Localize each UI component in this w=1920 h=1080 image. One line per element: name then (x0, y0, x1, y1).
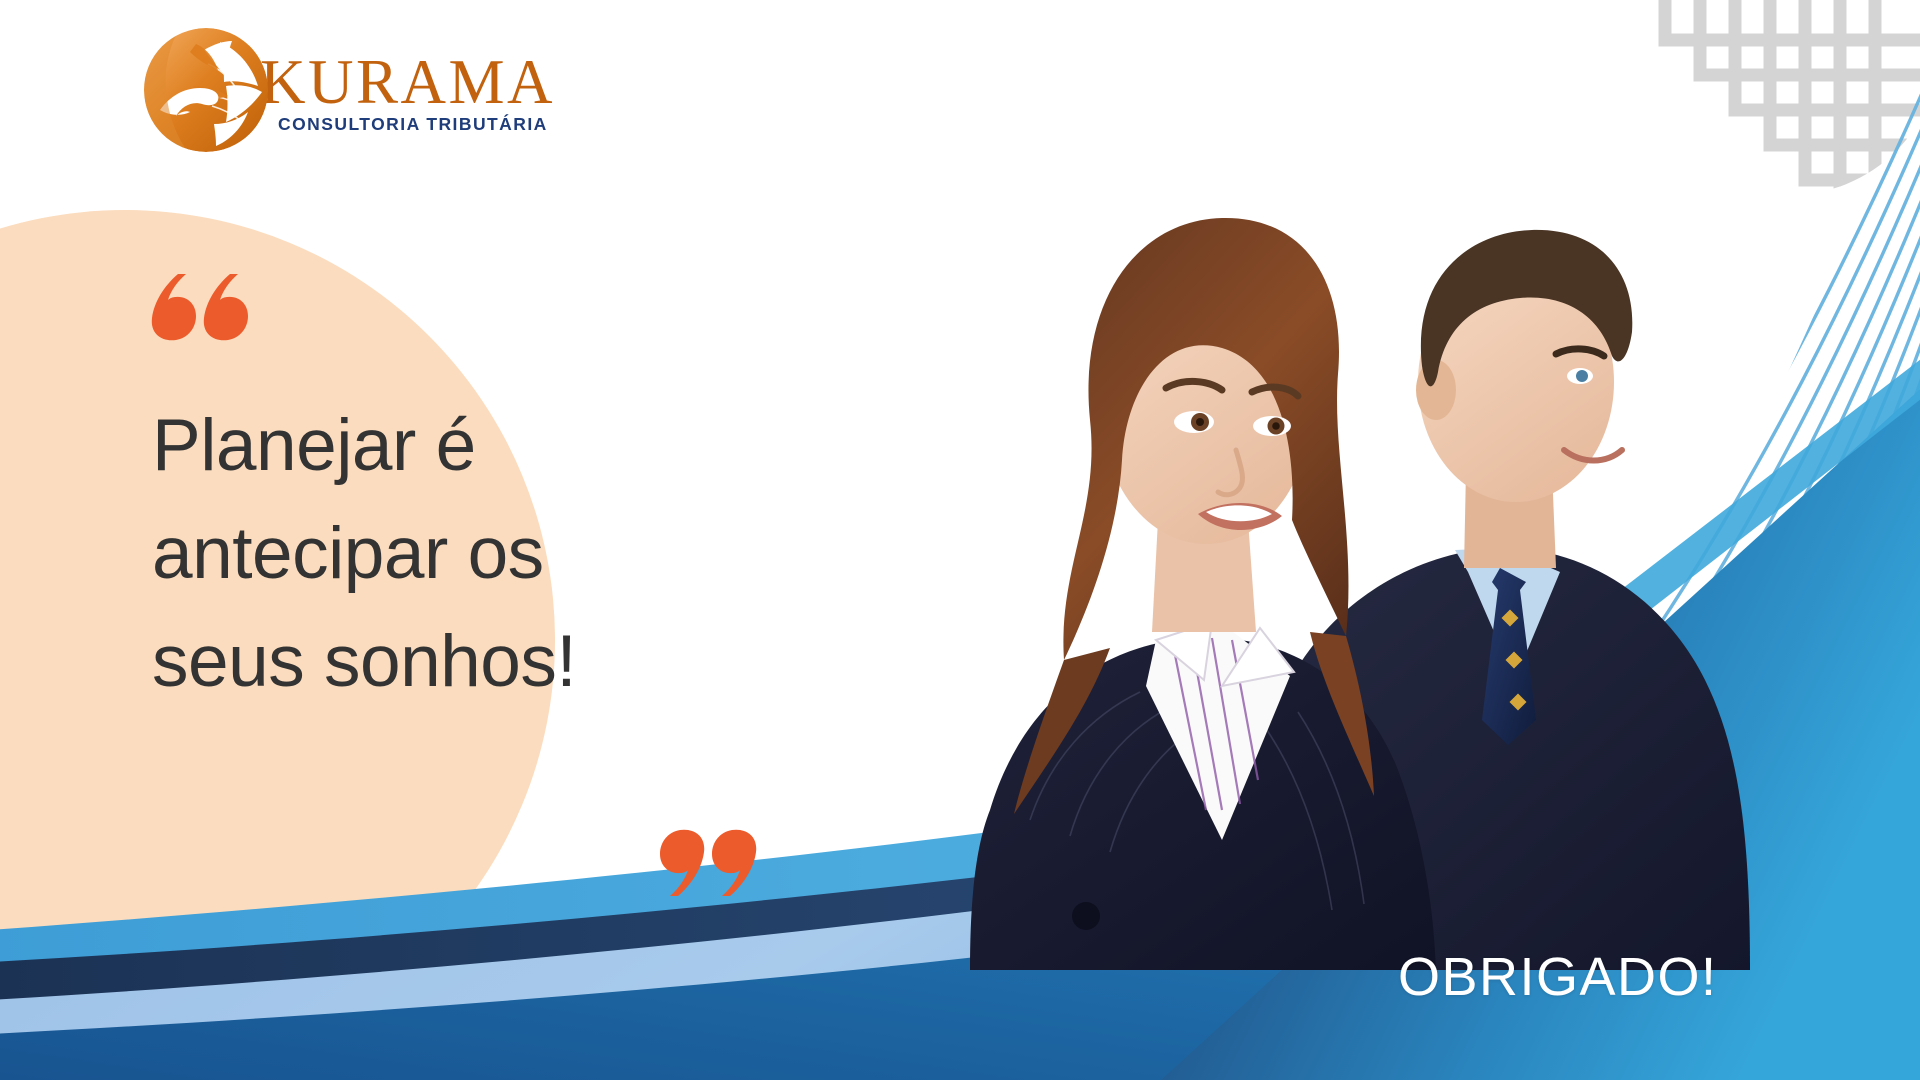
quote-close-icon (640, 828, 760, 898)
thanks-label: OBRIGADO! (1398, 946, 1718, 1008)
quote-line-3: seus sonhos! (152, 608, 872, 716)
quote-text: Planejar é antecipar os seus sonhos! (152, 392, 872, 716)
businesswoman-figure (970, 218, 1436, 970)
quote-line-2: antecipar os (152, 500, 872, 608)
people-photo (960, 120, 1780, 970)
brand-tagline: CONSULTORIA TRIBUTÁRIA (278, 114, 548, 135)
feathered-globe-icon (140, 24, 272, 156)
quote-open-icon (148, 272, 268, 342)
marketing-slide: KURAMA CONSULTORIA TRIBUTÁRIA Planejar é… (0, 0, 1920, 1080)
quote-line-1: Planejar é (152, 392, 872, 500)
logo-wordmark: KURAMA CONSULTORIA TRIBUTÁRIA (260, 44, 555, 135)
brand-name: KURAMA (260, 52, 555, 112)
brand-logo[interactable]: KURAMA CONSULTORIA TRIBUTÁRIA (140, 22, 580, 157)
